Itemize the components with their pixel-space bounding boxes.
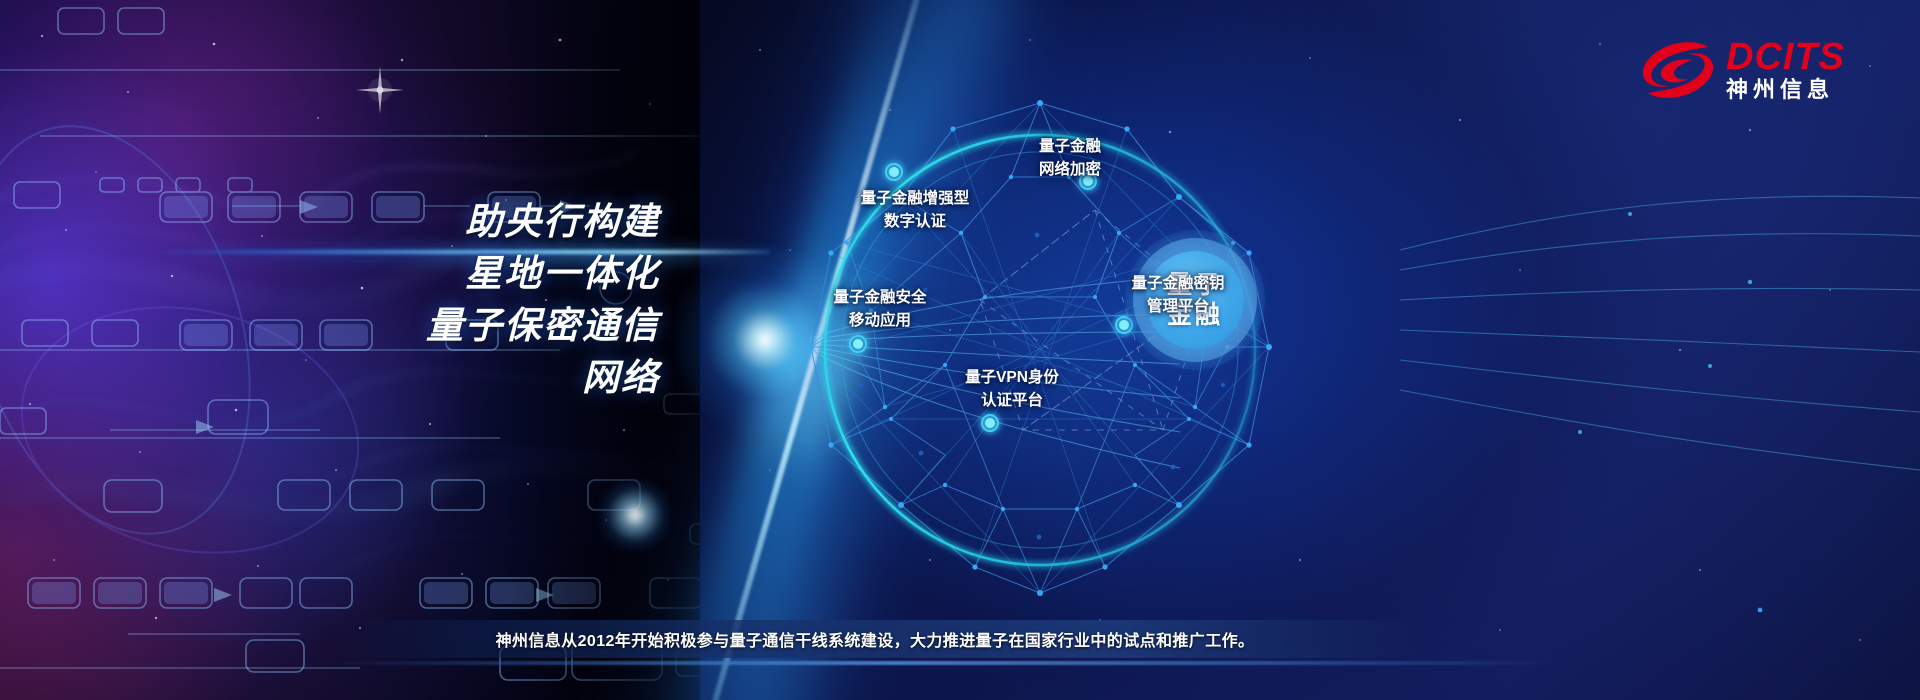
logo-wordmark: DCITS 神州信息 — [1726, 37, 1845, 103]
node-label-vpn-auth: 量子VPN身份 认证平台 — [922, 366, 1102, 412]
node-dot-digital-auth[interactable] — [881, 159, 907, 185]
node-label-mobile-app: 量子金融安全 移动应用 — [790, 286, 970, 332]
headline-line-2: 星地一体化 — [300, 248, 660, 300]
headline-line-3: 量子保密通信 — [300, 300, 660, 352]
node-label-line-2: 网络加密 — [1000, 158, 1140, 181]
node-label-line-1: 量子金融 — [1000, 135, 1140, 158]
node-label-line-2: 移动应用 — [790, 309, 970, 332]
banner-root: 助央行构建 星地一体化 量子保密通信 网络 — [0, 0, 1920, 700]
node-label-key-management: 量子金融密钥 管理平台 — [1088, 272, 1268, 318]
node-label-line-1: 量子金融安全 — [790, 286, 970, 309]
brand-logo[interactable]: DCITS 神州信息 — [1640, 28, 1890, 112]
logo-name-cn: 神州信息 — [1726, 77, 1845, 103]
node-label-line-2: 认证平台 — [922, 389, 1102, 412]
star-sparkle-icon — [356, 66, 404, 114]
headline-block: 助央行构建 星地一体化 量子保密通信 网络 — [300, 196, 660, 404]
node-dot-mobile-app[interactable] — [845, 331, 871, 357]
node-label-digital-auth: 量子金融增强型 数字认证 — [815, 187, 1015, 233]
node-label-line-1: 量子金融增强型 — [815, 187, 1015, 210]
swirl-logo-icon — [1640, 38, 1714, 102]
headline-line-1: 助央行构建 — [300, 196, 660, 248]
node-dot-vpn-auth[interactable] — [977, 410, 1003, 436]
caption-text: 神州信息从2012年开始积极参与量子通信干线系统建设，大力推进量子在国家行业中的… — [330, 620, 1420, 658]
node-label-network-encryption: 量子金融 网络加密 — [1000, 135, 1140, 181]
logo-name-en: DCITS — [1726, 37, 1845, 77]
node-label-line-1: 量子VPN身份 — [922, 366, 1102, 389]
caption-underline — [330, 661, 1560, 665]
headline-line-4: 网络 — [300, 352, 660, 404]
node-label-line-2: 数字认证 — [815, 210, 1015, 233]
node-label-line-1: 量子金融密钥 — [1088, 272, 1268, 295]
node-label-line-2: 管理平台 — [1088, 295, 1268, 318]
